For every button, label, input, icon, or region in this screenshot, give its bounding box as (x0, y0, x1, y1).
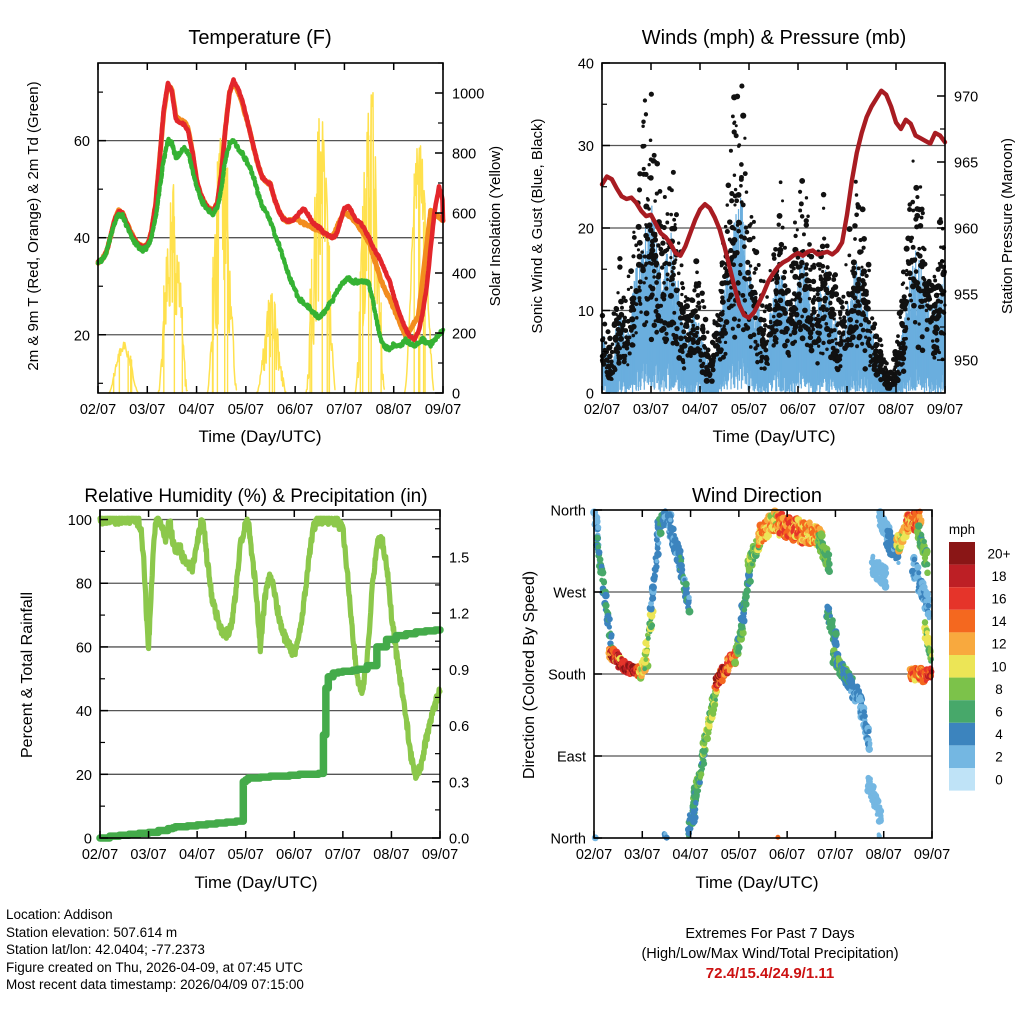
legend-swatch (949, 723, 975, 746)
gust-point (643, 98, 647, 102)
gust-point (800, 335, 806, 341)
gust-point (652, 237, 658, 243)
x-axis-label: Time (Day/UTC) (194, 873, 317, 892)
gust-point (647, 261, 651, 265)
gust-point (761, 344, 766, 349)
wind-direction-point (924, 570, 931, 577)
legend-swatch (949, 610, 975, 633)
wind-direction-point (927, 616, 931, 620)
legend-label: 12 (991, 637, 1006, 652)
y2-axis-label: Station Pressure (Maroon) (999, 138, 1016, 314)
gust-point (795, 294, 800, 299)
gust-point (836, 297, 841, 302)
gust-point (760, 331, 766, 337)
gust-point (745, 190, 749, 194)
y-axis-label: Percent & Total Rainfall (19, 592, 36, 758)
gust-point (637, 296, 641, 300)
axis-tick-label: 600 (452, 207, 476, 223)
gust-point (635, 316, 639, 320)
wind-direction-point (602, 602, 609, 609)
wind-direction-point (602, 578, 607, 583)
gust-point (867, 320, 871, 324)
gust-point (861, 328, 866, 333)
gust-point (908, 293, 912, 297)
gust-point (638, 285, 641, 288)
wind-direction-point (690, 808, 697, 815)
wind-direction-point (922, 539, 927, 544)
axis-tick-label: 1.5 (449, 550, 469, 566)
gust-point (645, 297, 650, 302)
extremes-block: Extremes For Past 7 Days (High/Low/Max W… (560, 924, 980, 984)
gust-point (724, 225, 727, 228)
gust-point (934, 302, 938, 306)
gust-point (697, 338, 701, 342)
gust-point (771, 252, 776, 257)
wind-direction-point (644, 649, 650, 655)
gust-point (649, 247, 655, 253)
gust-point (674, 326, 679, 331)
gust-point (739, 184, 743, 188)
gust-point (840, 305, 845, 310)
gust-point (655, 304, 660, 309)
axis-tick-label: 03/07 (633, 402, 669, 418)
gust-point (632, 309, 635, 312)
gust-point (774, 280, 779, 285)
gust-point (866, 262, 872, 268)
gust-point (804, 266, 808, 270)
gust-point (752, 220, 756, 224)
gust-point (698, 351, 703, 356)
gust-point (637, 240, 643, 246)
gust-point (904, 246, 910, 252)
gust-point (781, 199, 784, 202)
gust-point (928, 295, 931, 298)
gust-point (744, 225, 748, 229)
axis-tick-label: 955 (954, 288, 978, 304)
gust-point (886, 372, 890, 376)
gust-point (819, 274, 823, 278)
axis-tick-label: 0 (84, 832, 92, 848)
wind-direction-point (646, 644, 650, 648)
gust-point (680, 281, 684, 285)
gust-point (815, 361, 820, 366)
gust-point (648, 284, 652, 288)
wind-direction-point (686, 608, 694, 616)
axis-tick-label: 0 (452, 387, 460, 403)
gust-point (733, 173, 736, 176)
gust-point (825, 348, 829, 352)
axis-tick-label: 09/07 (927, 402, 963, 418)
gust-point (800, 315, 804, 319)
gust-point (766, 333, 770, 337)
wind-direction-point (925, 552, 930, 557)
gust-point (893, 358, 897, 362)
gust-point (726, 183, 732, 189)
gust-point (736, 220, 741, 225)
winds-pressure-panel: Winds (mph) & Pressure (mb) 02/0703/0704… (512, 0, 1024, 460)
gust-point (745, 270, 751, 276)
gust-point (664, 286, 668, 290)
gust-point (715, 322, 720, 327)
gust-point (670, 276, 675, 281)
gust-point (719, 331, 725, 337)
gust-point (805, 196, 808, 199)
gust-point (868, 364, 871, 367)
wind-direction-point (607, 624, 612, 629)
gust-point (681, 286, 685, 290)
gust-point (764, 306, 768, 310)
gust-point (632, 231, 635, 234)
gust-point (933, 275, 937, 279)
gust-point (618, 337, 622, 341)
gust-point (641, 120, 645, 124)
gust-point (672, 311, 676, 315)
gust-point (848, 324, 853, 329)
gust-point (750, 215, 754, 219)
gust-point (655, 330, 659, 334)
gust-point (703, 352, 708, 357)
gust-point (680, 293, 683, 296)
gust-point (819, 298, 823, 302)
gust-point (671, 170, 676, 175)
gust-point (647, 222, 653, 228)
gust-point (698, 305, 701, 308)
gust-point (699, 348, 702, 351)
gust-point (878, 378, 881, 381)
wind-direction-chart: Wind Direction 02/0703/0704/0705/0706/07… (512, 460, 1024, 900)
gust-point (630, 295, 636, 301)
gust-point (839, 338, 842, 341)
gust-point (800, 214, 805, 219)
gust-point (640, 144, 645, 149)
gust-point (860, 342, 864, 346)
gust-point (607, 354, 613, 360)
gust-point (728, 292, 733, 297)
gust-point (605, 366, 608, 369)
gust-point (813, 295, 816, 298)
legend-label: 16 (991, 592, 1006, 607)
wind-direction-point (714, 698, 718, 702)
gust-point (745, 230, 750, 235)
gust-point (911, 303, 917, 309)
gust-point (931, 351, 936, 356)
gust-point (739, 177, 744, 182)
gust-point (804, 218, 809, 223)
gust-point (753, 249, 759, 255)
axis-tick-label: 08/07 (866, 847, 902, 863)
gust-point (896, 361, 901, 366)
gust-point (861, 266, 864, 269)
gust-point (817, 345, 820, 348)
gust-point (654, 319, 657, 322)
gust-point (818, 324, 823, 329)
gust-point (855, 344, 859, 348)
gust-point (672, 262, 675, 265)
gust-point (833, 272, 838, 277)
gust-point (732, 335, 737, 340)
gust-point (640, 266, 645, 271)
gust-point (760, 340, 765, 345)
gust-point (701, 330, 705, 334)
gust-point (753, 315, 758, 320)
wind-direction-point (693, 800, 698, 805)
axis-tick-label: 60 (76, 640, 92, 656)
gust-point (669, 226, 674, 231)
gust-point (906, 259, 910, 263)
gust-point (724, 341, 727, 344)
gust-point (905, 269, 908, 272)
wind-direction-point (654, 551, 661, 558)
gust-point (852, 275, 856, 279)
gust-point (637, 254, 643, 260)
gust-point (838, 364, 842, 368)
gust-point (914, 224, 919, 229)
gust-point (859, 323, 863, 327)
axis-tick-label: 08/07 (373, 847, 409, 863)
gust-point (808, 268, 812, 272)
gust-point (652, 323, 657, 328)
gust-point (799, 201, 804, 206)
gust-point (921, 305, 925, 309)
gust-point (828, 301, 832, 305)
gust-point (837, 330, 842, 335)
gust-point (843, 347, 847, 351)
gust-point (915, 195, 919, 199)
gust-point (706, 348, 709, 351)
wind-direction-point (649, 607, 655, 613)
gust-point (613, 335, 617, 339)
y2-axis-label: Solar Insolation (Yellow) (487, 146, 504, 306)
gust-point (716, 314, 720, 318)
gust-point (798, 300, 801, 303)
gust-point (624, 354, 628, 358)
gust-point (669, 213, 673, 217)
gust-point (812, 339, 818, 345)
gust-point (630, 286, 633, 289)
gust-point (935, 338, 940, 343)
gust-point (637, 171, 642, 176)
gust-point (696, 293, 701, 298)
weather-dashboard: Temperature (F) 02/0703/0704/0705/0706/0… (0, 0, 1024, 1024)
gust-point (856, 335, 861, 340)
gust-point (764, 355, 769, 360)
wind-direction-point (602, 592, 610, 600)
wind-direction-point (649, 623, 655, 629)
gust-point (623, 299, 627, 303)
gust-point (790, 313, 794, 317)
wind-direction-point (916, 570, 921, 575)
gust-point (933, 278, 937, 282)
gust-point (743, 298, 748, 303)
gust-point (735, 124, 738, 127)
axis-tick-label: 07/07 (817, 847, 853, 863)
gust-point (825, 243, 830, 248)
legend-swatch (949, 678, 975, 701)
gust-point (880, 344, 884, 348)
gust-point (857, 266, 861, 270)
axis-tick-label: 08/07 (376, 402, 412, 418)
wind-direction-point (701, 761, 707, 767)
gust-point (630, 300, 635, 305)
gust-point (636, 224, 642, 230)
gust-point (704, 378, 710, 384)
gust-point (686, 332, 690, 336)
gust-point (646, 198, 650, 202)
gust-point (736, 324, 740, 328)
gust-point (753, 346, 757, 350)
gust-point (747, 224, 751, 228)
axis-tick-label: 05/07 (228, 847, 264, 863)
gust-point (927, 304, 933, 310)
gust-point (690, 298, 695, 303)
gust-point (670, 188, 674, 192)
axis-tick-label: South (548, 668, 586, 684)
gust-point (725, 270, 728, 273)
wind-direction-point (745, 589, 750, 594)
gust-point (897, 310, 903, 316)
axis-tick-label: 07/07 (325, 847, 361, 863)
gust-point (848, 331, 852, 335)
gust-point (816, 318, 822, 324)
gust-point (680, 358, 685, 363)
gust-point (755, 353, 759, 357)
gust-point (914, 269, 919, 274)
gust-point (931, 339, 934, 342)
legend-swatch (949, 632, 975, 655)
axis-tick-label: 0 (586, 387, 594, 403)
wind-direction-point (595, 535, 601, 541)
gust-point (733, 203, 736, 206)
gust-point (932, 310, 936, 314)
gust-point (823, 287, 829, 293)
axis-tick-label: 0.0 (449, 832, 469, 848)
gust-point (917, 247, 921, 251)
gust-point (913, 257, 917, 261)
gust-point (786, 318, 791, 323)
gust-point (831, 277, 836, 282)
axis-tick-label: 04/07 (682, 402, 718, 418)
gust-point (685, 353, 690, 358)
legend-swatch (949, 700, 975, 723)
gust-point (923, 247, 927, 251)
gust-point (919, 289, 922, 292)
extremes-subtitle: (High/Low/Max Wind/Total Precipitation) (560, 944, 980, 964)
gust-point (901, 356, 906, 361)
axis-tick-label: West (553, 586, 586, 602)
gust-point (785, 339, 790, 344)
wind-direction-point (825, 605, 832, 612)
gust-point (779, 242, 784, 247)
gust-point (698, 359, 702, 363)
wind-direction-point (742, 601, 749, 608)
gust-point (803, 285, 809, 291)
gust-point (763, 323, 768, 328)
axis-tick-label: 02/07 (584, 402, 620, 418)
gust-point (720, 299, 726, 305)
gust-point (654, 280, 659, 285)
legend-label: 6 (995, 705, 1003, 720)
gust-point (684, 324, 689, 329)
gust-point (683, 335, 687, 339)
gust-point (776, 305, 781, 310)
gust-point (654, 161, 660, 167)
wind-direction-point (738, 623, 745, 630)
gust-point (778, 290, 783, 295)
gust-point (778, 298, 784, 304)
gust-point (742, 244, 747, 249)
gust-point (666, 212, 670, 216)
gust-point (809, 348, 815, 354)
gust-point (847, 226, 853, 232)
gust-point (793, 234, 797, 238)
gust-point (644, 262, 648, 266)
gust-point (753, 271, 757, 275)
gust-point (701, 299, 705, 303)
gust-point (734, 198, 739, 203)
gust-point (848, 317, 854, 323)
gust-point (860, 206, 866, 212)
wind-direction-point (866, 729, 871, 734)
gust-point (712, 356, 716, 360)
gust-point (645, 236, 650, 241)
gust-point (850, 269, 853, 272)
gust-point (729, 198, 734, 203)
y-axis-label: Direction (Colored By Speed) (521, 571, 538, 779)
gust-point (744, 323, 748, 327)
gust-point (678, 336, 684, 342)
axis-tick-label: 0.9 (449, 663, 469, 679)
axis-tick-label: 05/07 (721, 847, 757, 863)
legend-label: 14 (991, 614, 1007, 629)
gust-point (791, 329, 797, 335)
legend-swatch (949, 768, 975, 791)
gust-point (871, 358, 875, 362)
gust-point (785, 301, 790, 306)
extremes-title: Extremes For Past 7 Days (560, 924, 980, 944)
gust-point (784, 291, 787, 294)
gust-point (661, 292, 664, 295)
axis-tick-label: 03/07 (129, 402, 165, 418)
gust-point (807, 242, 812, 247)
wind-direction-point (657, 529, 665, 537)
gust-point (908, 202, 913, 207)
gust-point (691, 327, 697, 333)
gust-point (754, 296, 758, 300)
gust-point (736, 229, 741, 234)
gust-point (720, 264, 723, 267)
axis-tick-label: 800 (452, 147, 476, 163)
gust-point (656, 243, 661, 248)
gust-point (835, 342, 839, 346)
gust-point (782, 283, 787, 288)
gust-point (727, 219, 733, 225)
gust-point (792, 267, 796, 271)
gust-point (868, 354, 872, 358)
gust-point (851, 259, 857, 265)
axis-tick-label: 40 (578, 57, 594, 73)
gust-point (936, 267, 941, 272)
wind-direction-point (926, 603, 932, 609)
gust-point (728, 248, 733, 253)
gust-point (925, 327, 930, 332)
legend-label: 4 (995, 727, 1003, 742)
gust-point (620, 322, 626, 328)
gust-point (938, 262, 941, 265)
axis-tick-label: 05/07 (228, 402, 264, 418)
gust-point (781, 226, 785, 230)
gust-point (862, 366, 867, 371)
wind-direction-point (686, 600, 691, 605)
